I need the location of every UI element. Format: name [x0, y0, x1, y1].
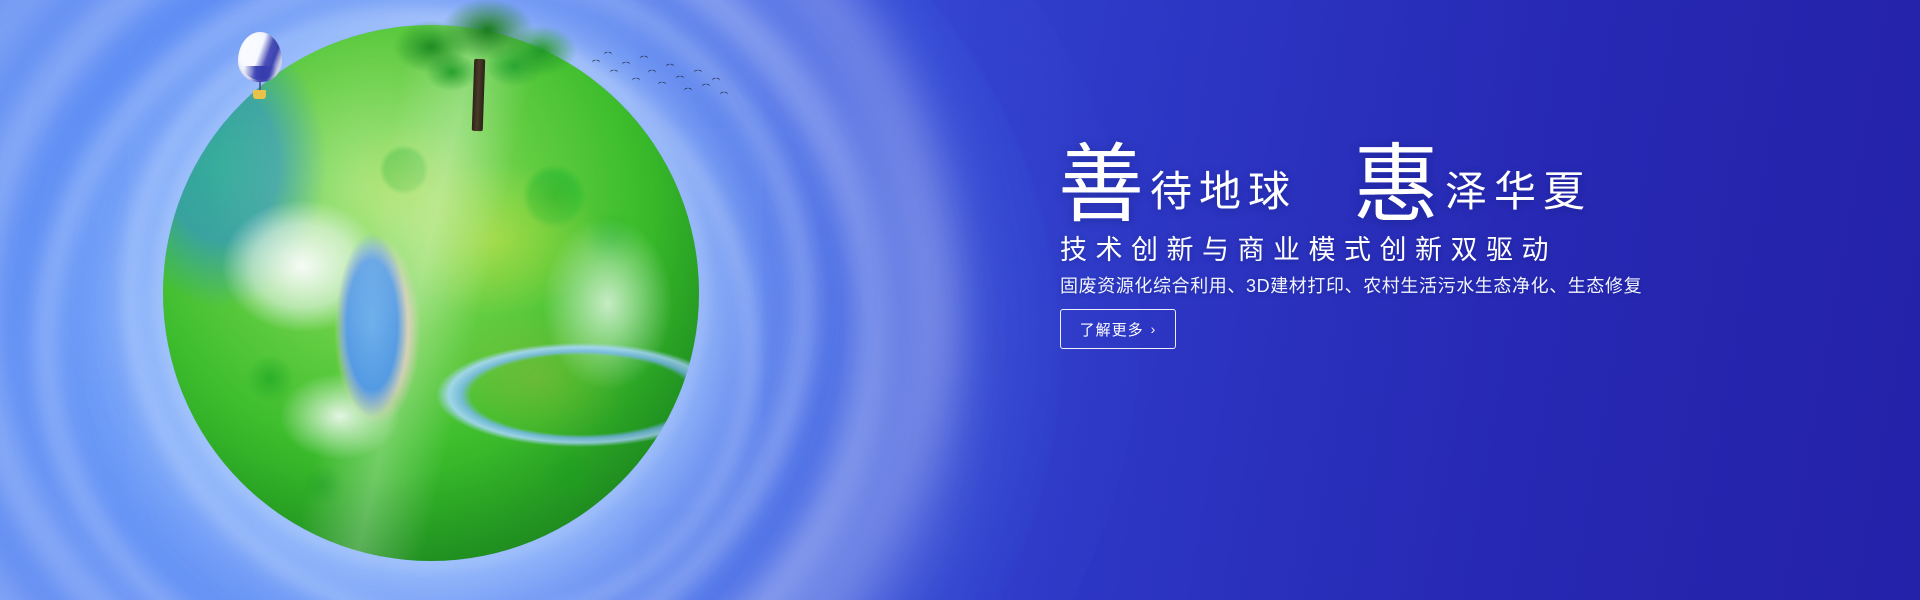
bird-flock-icon [590, 48, 730, 104]
balloon-basket [253, 90, 266, 99]
learn-more-label: 了解更多 [1080, 319, 1144, 340]
learn-more-button[interactable]: 了解更多 › [1060, 309, 1176, 349]
chevron-right-icon: › [1151, 322, 1157, 336]
banner-description: 固废资源化综合利用、3D建材打印、农村生活污水生态净化、生态修复 [1060, 272, 1642, 298]
headline-big-char-1: 善 [1058, 146, 1144, 225]
page-title: 善 待地球 惠 泽华夏 [1058, 140, 1592, 219]
banner-content: 善 待地球 惠 泽华夏 技术创新与商业模式创新双驱动 固废资源化综合利用、3D建… [1058, 0, 1818, 600]
hot-air-balloon-icon [238, 32, 282, 100]
planet-sphere [163, 25, 699, 561]
banner-subtitle: 技术创新与商业模式创新双驱动 [1060, 228, 1557, 267]
balloon-envelope [238, 32, 282, 82]
hero-banner: 善 待地球 惠 泽华夏 技术创新与商业模式创新双驱动 固废资源化综合利用、3D建… [0, 0, 1920, 600]
headline-big-char-2: 惠 [1353, 146, 1439, 225]
green-planet-image [163, 25, 699, 561]
headline-small-chars-2: 泽华夏 [1445, 172, 1592, 219]
headline-phrase-2: 惠 泽华夏 [1353, 140, 1592, 219]
headline-small-chars-1: 待地球 [1150, 172, 1297, 219]
headline-phrase-1: 善 待地球 [1058, 140, 1297, 219]
